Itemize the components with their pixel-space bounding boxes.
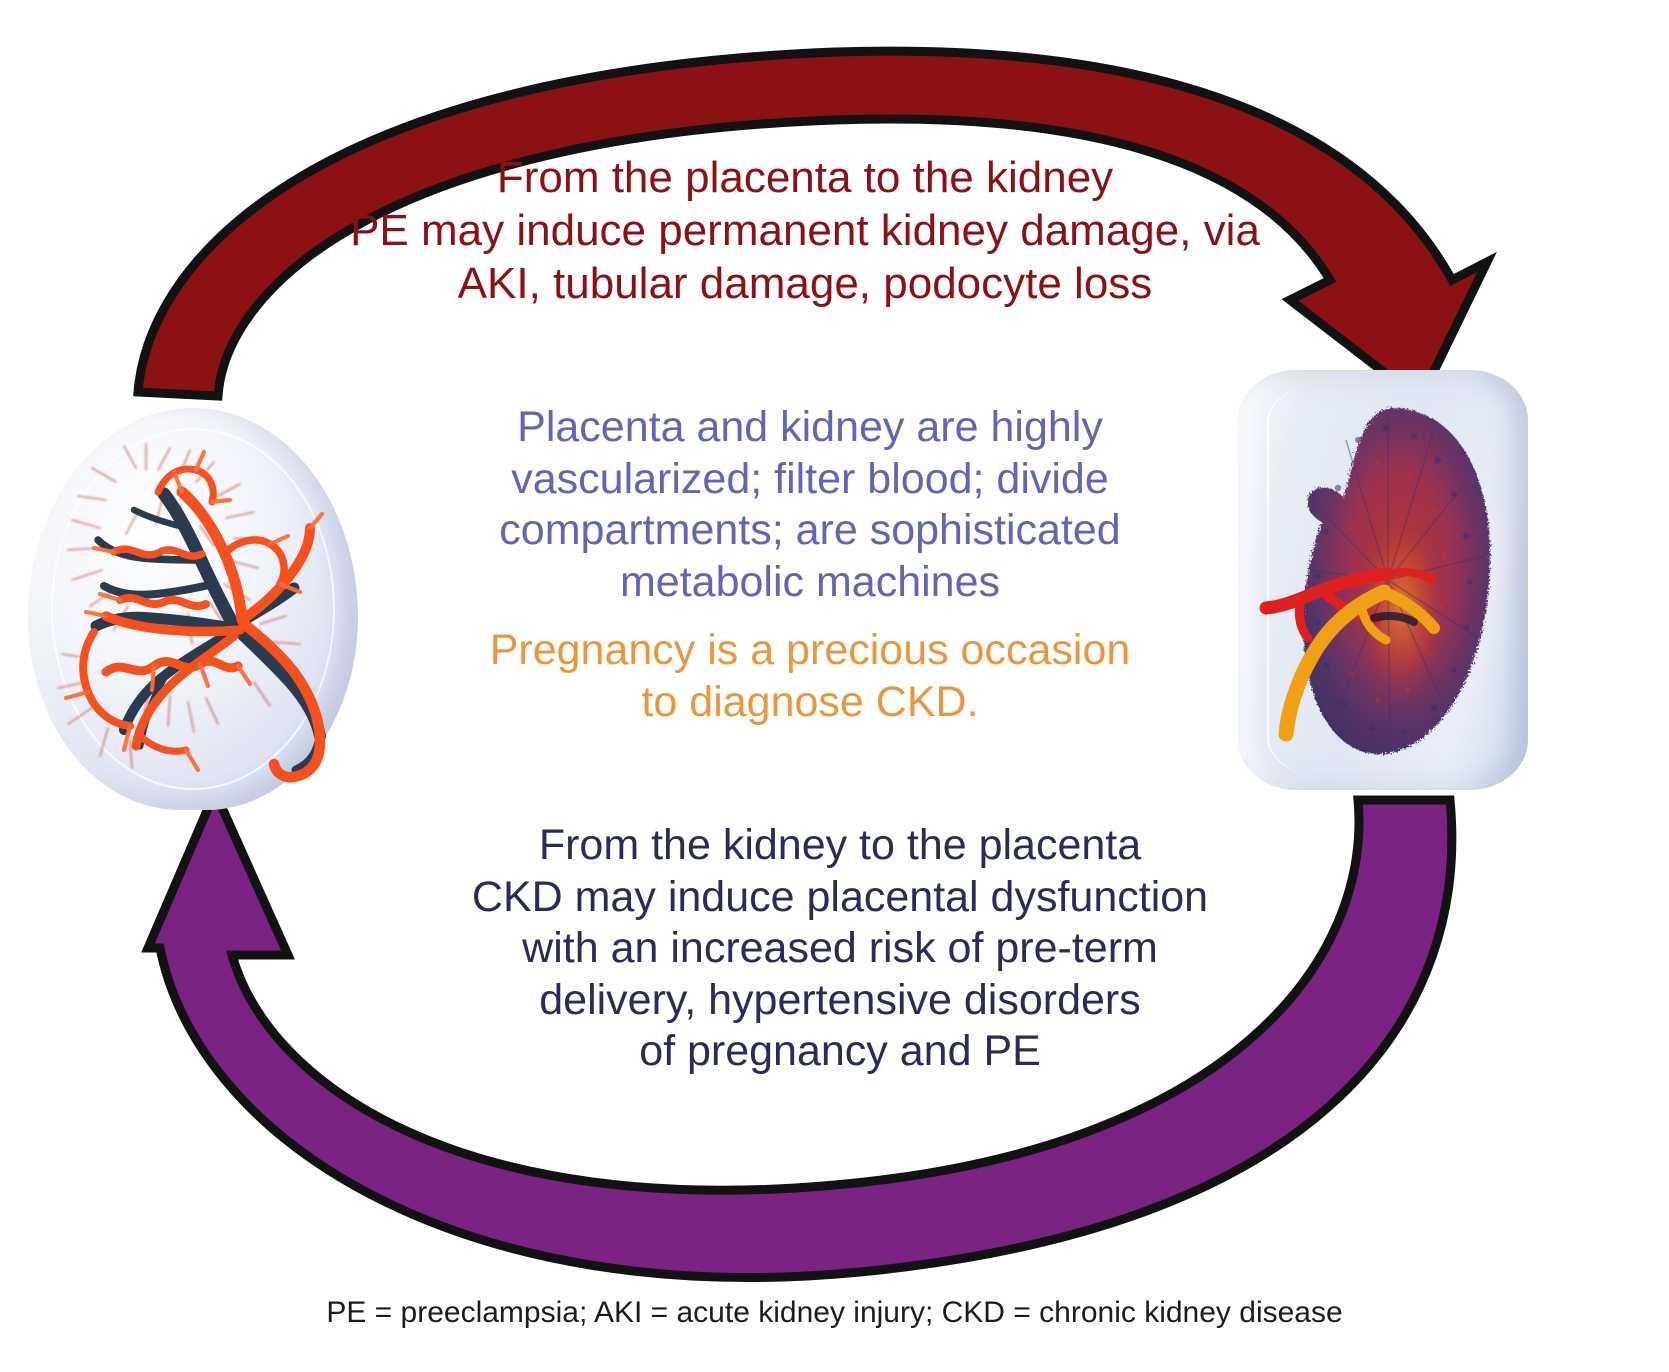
placenta-vessel-cast <box>28 408 358 810</box>
shared-biology-caption: Placenta and kidney are highly vasculari… <box>420 402 1200 608</box>
kidney-vascular-cast-image <box>1238 370 1528 790</box>
kidney-to-placenta-caption: From the kidney to the placenta CKD may … <box>440 820 1240 1078</box>
placenta-to-kidney-caption: From the placenta to the kidney PE may i… <box>300 152 1310 310</box>
kidney-vessel-cast <box>1238 370 1528 790</box>
pregnancy-ckd-highlight-caption: Pregnancy is a precious occasion to diag… <box>420 625 1200 728</box>
abbreviation-legend: PE = preeclampsia; AKI = acute kidney in… <box>0 1296 1669 1330</box>
placenta-vascular-cast-image <box>28 408 358 810</box>
diagram-canvas: From the placenta to the kidney PE may i… <box>0 0 1669 1372</box>
